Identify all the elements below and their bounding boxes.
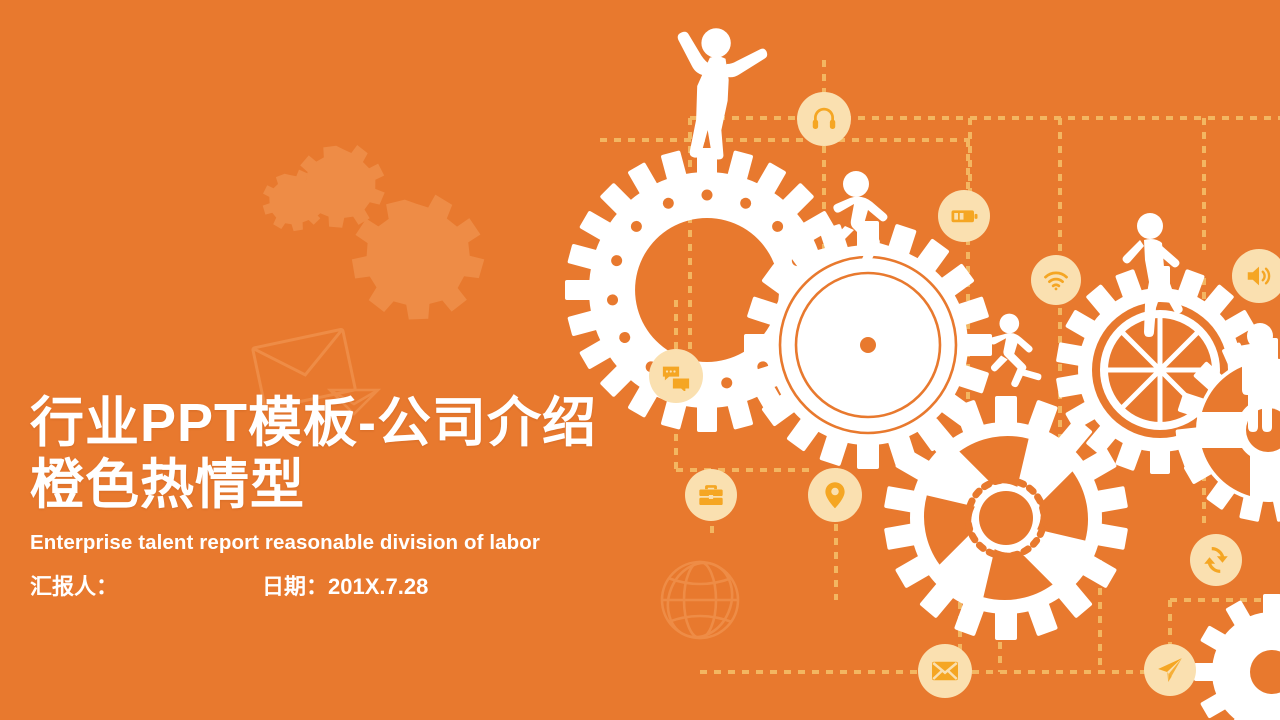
title-block: 行业PPT模板-公司介绍 橙色热情型 Enterprise talent rep… bbox=[30, 392, 670, 602]
subtitle: Enterprise talent report reasonable divi… bbox=[30, 530, 670, 556]
title-line-1: 行业PPT模板-公司介绍 bbox=[30, 392, 670, 454]
date-label: 日期： bbox=[262, 574, 328, 599]
date-value: 日期：201X.7.28 bbox=[262, 572, 428, 602]
meta-row: 汇报人： 日期：201X.7.28 bbox=[30, 572, 670, 602]
presentation-slide: 行业PPT模板-公司介绍 橙色热情型 Enterprise talent rep… bbox=[0, 0, 1280, 720]
title-line-2: 橙色热情型 bbox=[30, 454, 670, 516]
title-text-layer: 行业PPT模板-公司介绍 橙色热情型 Enterprise talent rep… bbox=[0, 0, 1280, 720]
presenter-label: 汇报人： bbox=[30, 572, 262, 602]
date-text: 201X.7.28 bbox=[328, 574, 428, 599]
